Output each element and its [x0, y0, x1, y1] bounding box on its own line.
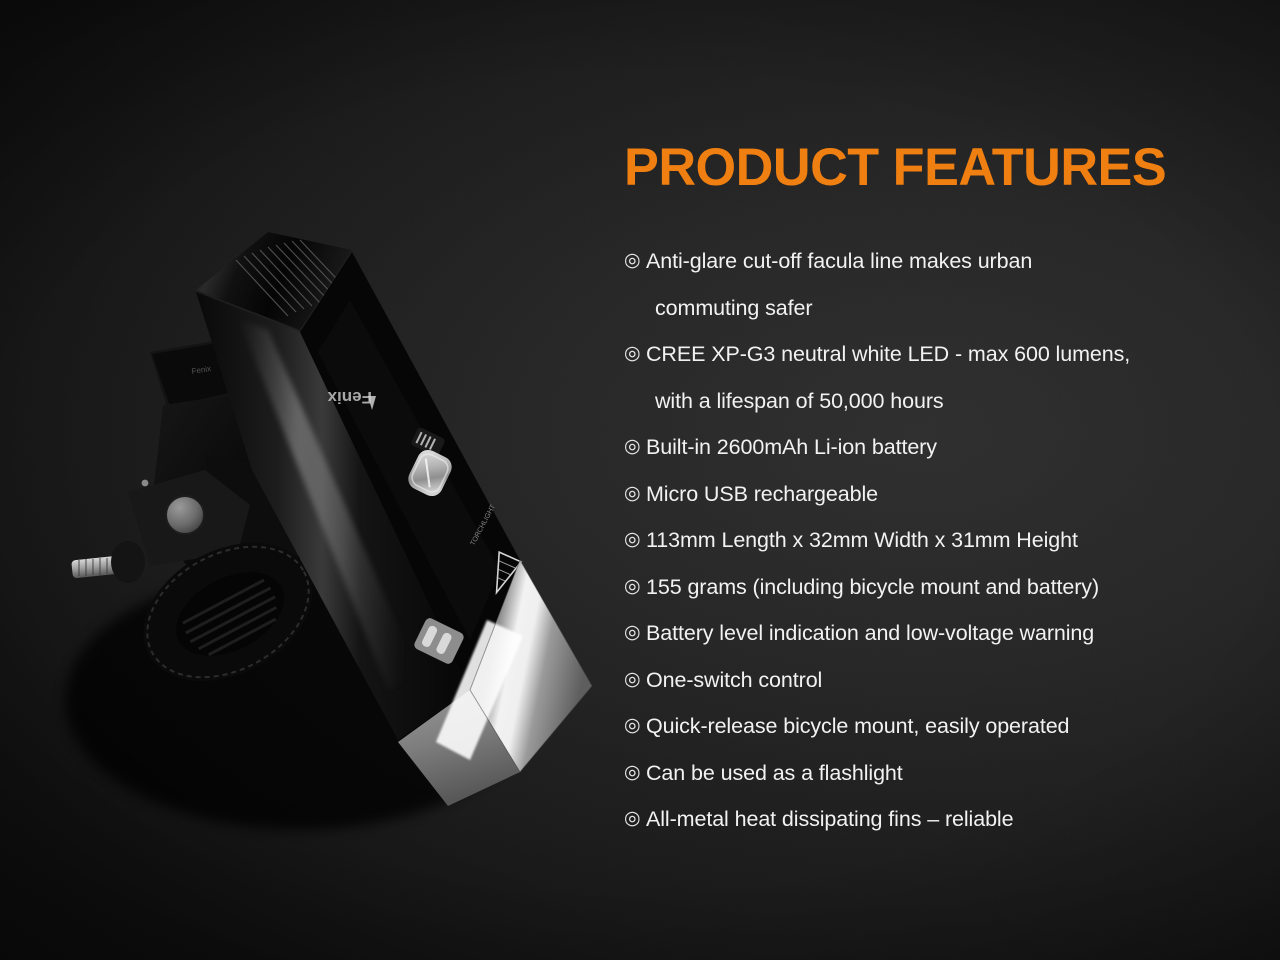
bullet-double-circle-icon: ◎ — [624, 517, 646, 564]
feature-item: ◎Battery level indication and low-voltag… — [624, 610, 1224, 657]
feature-item: ◎Quick-release bicycle mount, easily ope… — [624, 703, 1224, 750]
feature-text: Can be used as a flashlight — [646, 750, 903, 797]
feature-item: ◎commuting safer — [624, 285, 1224, 332]
bullet-double-circle-icon: ◎ — [624, 657, 646, 704]
feature-item: ◎Can be used as a flashlight — [624, 750, 1224, 797]
feature-item: ◎113mm Length x 32mm Width x 31mm Height — [624, 517, 1224, 564]
features-panel: PRODUCT FEATURES ◎Anti-glare cut-off fac… — [624, 140, 1224, 843]
feature-text: 155 grams (including bicycle mount and b… — [646, 564, 1099, 611]
feature-text: Battery level indication and low-voltage… — [646, 610, 1094, 657]
feature-item: ◎Anti-glare cut-off facula line makes ur… — [624, 238, 1224, 285]
bullet-double-circle-icon: ◎ — [624, 703, 646, 750]
bullet-double-circle-icon: ◎ — [624, 238, 646, 285]
product-photo: Fenix — [0, 0, 620, 960]
feature-text: Built-in 2600mAh Li-ion battery — [646, 424, 937, 471]
feature-item: ◎One-switch control — [624, 657, 1224, 704]
bullet-double-circle-icon: ◎ — [624, 564, 646, 611]
feature-text: Quick-release bicycle mount, easily oper… — [646, 703, 1069, 750]
feature-text: commuting safer — [646, 285, 812, 332]
feature-list: ◎Anti-glare cut-off facula line makes ur… — [624, 238, 1224, 843]
feature-item: ◎Built-in 2600mAh Li-ion battery — [624, 424, 1224, 471]
feature-item: ◎Micro USB rechargeable — [624, 471, 1224, 518]
feature-item: ◎All-metal heat dissipating fins – relia… — [624, 796, 1224, 843]
brand-logo-fenix: Fenix — [327, 388, 372, 407]
feature-item: ◎155 grams (including bicycle mount and … — [624, 564, 1224, 611]
product-feature-slide: Fenix — [0, 0, 1280, 960]
clamp-bolt — [71, 541, 145, 583]
mount-screw — [142, 480, 149, 487]
feature-text: Anti-glare cut-off facula line makes urb… — [646, 238, 1032, 285]
bullet-double-circle-icon: ◎ — [624, 750, 646, 797]
bullet-double-circle-icon: ◎ — [624, 610, 646, 657]
feature-item: ◎with a lifespan of 50,000 hours — [624, 378, 1224, 425]
feature-text: Micro USB rechargeable — [646, 471, 878, 518]
feature-item: ◎CREE XP-G3 neutral white LED - max 600 … — [624, 331, 1224, 378]
bullet-double-circle-icon: ◎ — [624, 796, 646, 843]
feature-text: with a lifespan of 50,000 hours — [646, 378, 944, 425]
feature-text: All-metal heat dissipating fins – reliab… — [646, 796, 1013, 843]
feature-text: CREE XP-G3 neutral white LED - max 600 l… — [646, 331, 1130, 378]
bullet-double-circle-icon: ◎ — [624, 331, 646, 378]
bullet-double-circle-icon: ◎ — [624, 424, 646, 471]
feature-text: One-switch control — [646, 657, 822, 704]
bullet-double-circle-icon: ◎ — [624, 471, 646, 518]
feature-text: 113mm Length x 32mm Width x 31mm Height — [646, 517, 1078, 564]
page-title: PRODUCT FEATURES — [624, 140, 1215, 196]
